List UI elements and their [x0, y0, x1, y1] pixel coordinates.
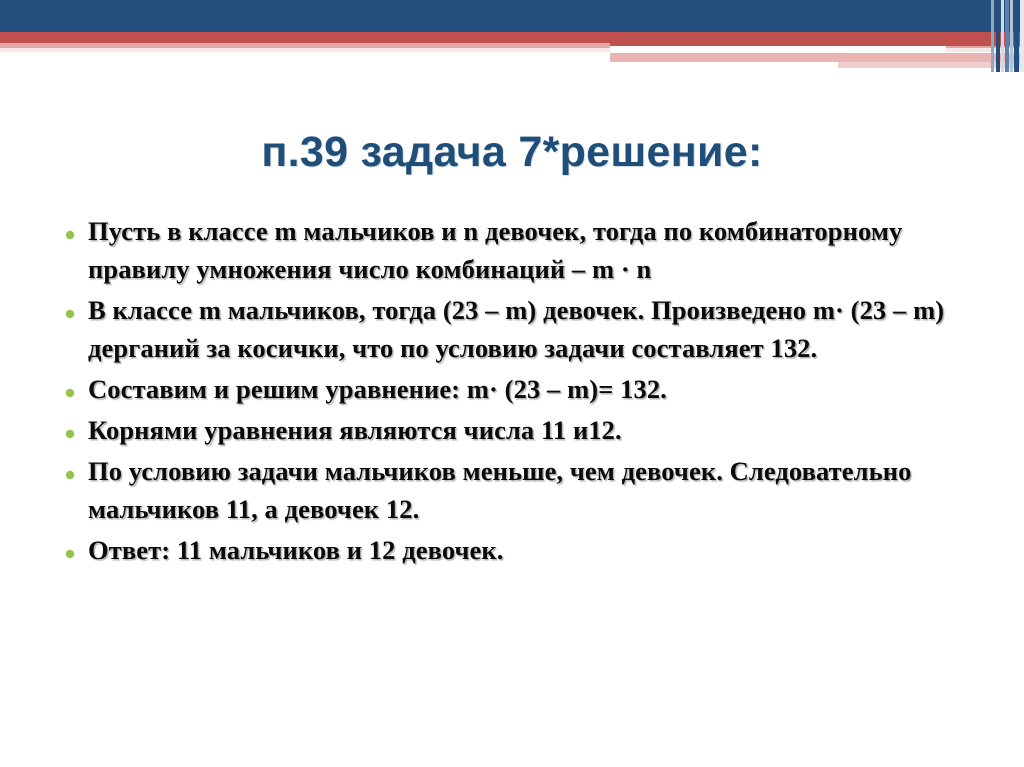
header-red-segment	[610, 32, 1024, 46]
header-stripe-6	[1014, 0, 1019, 72]
bullet-dot-icon	[66, 310, 74, 318]
bullet-dot-icon	[66, 231, 74, 239]
bullet-marker	[66, 370, 88, 402]
bullet-text: По условию задачи мальчиков меньше, чем …	[88, 452, 966, 528]
bullet-text: Корнями уравнения являются числа 11 и12.	[88, 411, 966, 449]
bullet-marker	[66, 291, 88, 323]
bullet-dot-icon	[66, 389, 74, 397]
bullet-marker	[66, 452, 88, 484]
header-white-gap-lower	[610, 62, 838, 67]
slide-body: Пусть в классе m мальчиков и n девочек, …	[66, 212, 966, 572]
header-vertical-stripes	[984, 0, 1024, 72]
header-stripe-7	[1020, 0, 1024, 72]
bullet-marker	[66, 212, 88, 244]
bullet-item: Пусть в классе m мальчиков и n девочек, …	[66, 212, 966, 288]
bullet-marker	[66, 411, 88, 443]
bullet-item: Составим и решим уравнение: m· (23 – m)=…	[66, 370, 966, 408]
title-block: п.39 задача 7*решение:	[0, 126, 1024, 178]
bullet-marker	[66, 531, 88, 563]
header-white-gap-upper	[610, 46, 946, 53]
bullet-item: В классе m мальчиков, тогда (23 – m) дев…	[66, 291, 966, 367]
bullet-dot-icon	[66, 550, 74, 558]
header-stripe-1	[991, 0, 994, 72]
bullet-text: Пусть в классе m мальчиков и n девочек, …	[88, 212, 966, 288]
bullet-dot-icon	[66, 471, 74, 479]
presentation-slide: п.39 задача 7*решение: Пусть в классе m …	[0, 0, 1024, 767]
bullet-text: В классе m мальчиков, тогда (23 – m) дев…	[88, 291, 966, 367]
header-stripe-4	[1005, 0, 1009, 72]
bullet-dot-icon	[66, 430, 74, 438]
header-stripe-2	[996, 0, 1000, 72]
header-stripe-5	[1010, 0, 1013, 72]
header-stripe-3	[1001, 0, 1004, 72]
slide-header-decoration	[0, 0, 1024, 80]
bullet-item: По условию задачи мальчиков меньше, чем …	[66, 452, 966, 528]
bullet-text: Составим и решим уравнение: m· (23 – m)=…	[88, 370, 966, 408]
bullet-text: Ответ: 11 мальчиков и 12 девочек.	[88, 531, 966, 569]
slide-title: п.39 задача 7*решение:	[0, 126, 1024, 178]
header-blue-band	[0, 0, 1024, 32]
bullet-item: Корнями уравнения являются числа 11 и12.	[66, 411, 966, 449]
bullet-item: Ответ: 11 мальчиков и 12 девочек.	[66, 531, 966, 569]
header-pink-segment	[610, 53, 1024, 62]
